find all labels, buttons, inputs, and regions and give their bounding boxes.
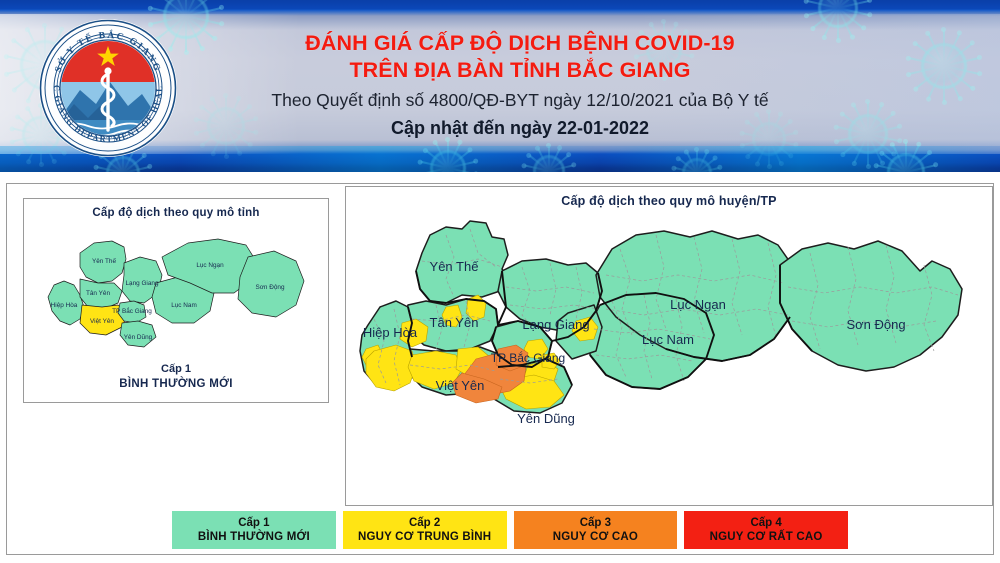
legend-item-level-3[interactable]: Cấp 3 NGUY CƠ CAO (514, 511, 678, 549)
infographic-page: SỞ Y TẾ BẮC GIANG BAC GIANG DEPARTMENT O… (0, 0, 1000, 563)
virus-particle-icon (876, 142, 936, 172)
province-label-lang-giang: Lạng Giang (125, 280, 158, 287)
district-label-luc-ngan: Lục Ngạn (670, 297, 726, 312)
legend-level-label: Cấp 1 (238, 516, 269, 530)
header-text-block: ĐÁNH GIÁ CẤP ĐỘ DỊCH BỆNH COVID-19 TRÊN … (215, 30, 825, 141)
district-label-tp-bac-giang: TP Bắc Giang (491, 350, 565, 365)
title-line-1: ĐÁNH GIÁ CẤP ĐỘ DỊCH BỆNH COVID-19 (215, 30, 825, 57)
district-region-son-dong[interactable] (780, 241, 962, 371)
province-label-son-dong: Sơn Động (255, 284, 285, 291)
province-label-luc-nam: Lục Nam (171, 302, 197, 309)
district-panel-title: Cấp độ dịch theo quy mô huyện/TP (346, 194, 992, 208)
legend-desc-label: NGUY CƠ RẤT CAO (710, 530, 823, 545)
header-banner: SỞ Y TẾ BẮC GIANG BAC GIANG DEPARTMENT O… (0, 0, 1000, 172)
seal-svg: SỞ Y TẾ BẮC GIANG BAC GIANG DEPARTMENT O… (38, 18, 178, 158)
legend-level-label: Cấp 4 (750, 516, 781, 530)
legend-desc-label: BÌNH THƯỜNG MỚI (198, 530, 310, 545)
virus-particle-icon (524, 146, 574, 172)
province-caption-desc: BÌNH THƯỜNG MỚI (24, 377, 328, 392)
legend-item-level-2[interactable]: Cấp 2 NGUY CƠ TRUNG BÌNH (343, 511, 507, 549)
province-label-viet-yen: Việt Yên (90, 318, 114, 325)
province-scale-map-panel: Cấp độ dịch theo quy mô tỉnh (23, 198, 329, 403)
district-label-lang-giang: Lạng Giang (522, 317, 589, 332)
virus-particle-icon (908, 30, 980, 102)
province-map: Yên Thế Tân Yên Hiệp Hòa Lạng Giang TP B… (38, 223, 316, 363)
logo: SỞ Y TẾ BẮC GIANG BAC GIANG DEPARTMENT O… (38, 18, 178, 158)
legend-desc-label: NGUY CƠ CAO (553, 530, 638, 545)
decision-subtitle: Theo Quyết định số 4800/QĐ-BYT ngày 12/1… (215, 87, 825, 114)
legend-item-level-4[interactable]: Cấp 4 NGUY CƠ RẤT CAO (684, 511, 848, 549)
district-label-luc-nam: Lục Nam (642, 332, 694, 347)
update-date: Cập nhật đến ngày 22-01-2022 (215, 115, 825, 141)
province-label-yen-the: Yên Thế (92, 256, 116, 265)
province-caption: Cấp 1 BÌNH THƯỜNG MỚI (24, 362, 328, 392)
legend-level-label: Cấp 3 (580, 516, 611, 530)
title-line-2: TRÊN ĐỊA BÀN TỈNH BẮC GIANG (215, 57, 825, 84)
legend-item-level-1[interactable]: Cấp 1 BÌNH THƯỜNG MỚI (172, 511, 336, 549)
province-label-tan-yen: Tân Yên (86, 290, 110, 297)
district-label-viet-yen: Việt Yên (436, 378, 485, 393)
province-panel-title: Cấp độ dịch theo quy mô tỉnh (24, 207, 328, 219)
province-label-tp-bac-giang: TP Bắc Giang (112, 306, 152, 315)
province-label-hiep-hoa: Hiệp Hòa (51, 302, 78, 309)
virus-particle-icon (836, 102, 900, 166)
virus-particle-icon (674, 150, 720, 172)
district-label-son-dong: Sơn Động (846, 317, 905, 332)
province-label-yen-dung: Yên Dũng (124, 334, 153, 341)
district-map: Yên Thế Tân Yên Hiệp Hòa Lạng Giang TP B… (350, 209, 990, 501)
district-label-tan-yen: Tân Yên (430, 315, 479, 330)
virus-particle-icon (420, 140, 476, 172)
district-scale-map-panel: Cấp độ dịch theo quy mô huyện/TP (345, 186, 993, 506)
province-caption-level: Cấp 1 (24, 362, 328, 377)
legend: Cấp 1 BÌNH THƯỜNG MỚI Cấp 2 NGUY CƠ TRUN… (172, 511, 848, 549)
province-label-luc-ngan: Lục Ngạn (196, 262, 224, 269)
district-label-yen-the: Yên Thế (430, 259, 480, 274)
legend-level-label: Cấp 2 (409, 516, 440, 530)
district-label-yen-dung: Yên Dũng (517, 411, 575, 426)
district-label-hiep-hoa: Hiệp Hòa (363, 325, 418, 340)
content-frame: Cấp độ dịch theo quy mô tỉnh (6, 183, 994, 555)
legend-desc-label: NGUY CƠ TRUNG BÌNH (358, 530, 491, 545)
